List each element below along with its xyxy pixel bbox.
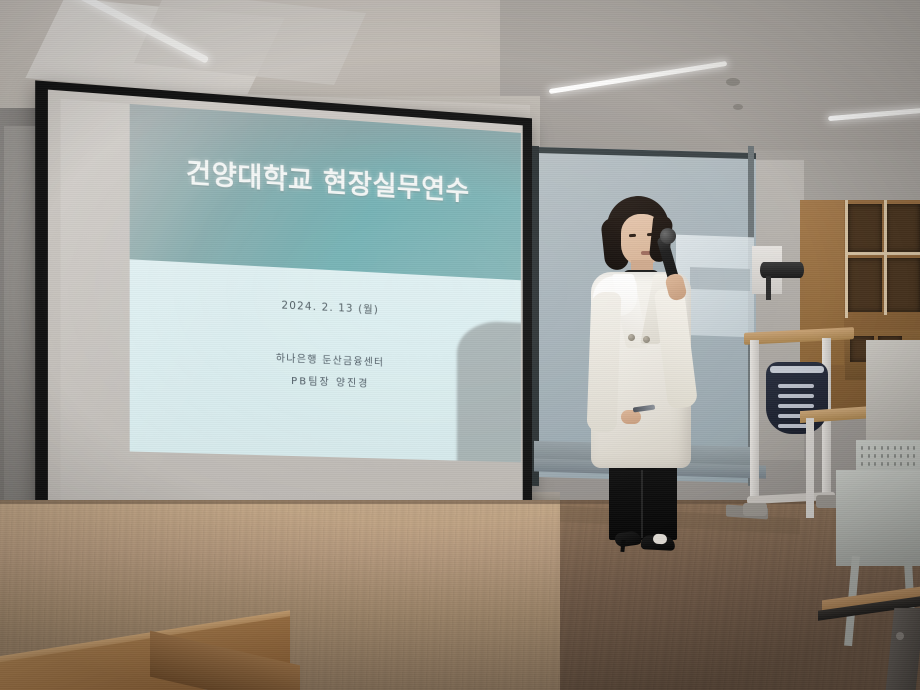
presenter-hand-left <box>621 410 641 424</box>
shelf-cubby <box>886 204 920 252</box>
perforation-dot <box>874 462 876 466</box>
shelf-cubby <box>848 258 882 312</box>
perforation-dot <box>900 446 902 450</box>
shelf-cubby <box>886 258 920 312</box>
perforation-dot <box>881 446 883 450</box>
presenter-arm-left <box>587 292 622 433</box>
perforation-dot <box>887 454 889 458</box>
desk-lamp-neck <box>766 276 771 300</box>
presenter-shoe-toe <box>653 534 668 545</box>
lectern-leg <box>750 340 759 508</box>
perforation-dot <box>868 462 870 466</box>
projection-screen: 건양대학교 현장실무연수 2024. 2. 13 (월) 하나은행 둔산금융센터… <box>35 80 532 553</box>
perforation-dot <box>881 462 883 466</box>
ceiling-fixture-dot <box>726 78 740 86</box>
perforation-dot <box>861 454 863 458</box>
perforation-dot <box>861 462 863 466</box>
perforation-dot <box>894 462 896 466</box>
shelf-divider <box>845 200 848 318</box>
perforation-dot <box>900 462 902 466</box>
shelf-divider <box>846 252 920 255</box>
jacket-button <box>628 334 635 341</box>
perforation-dot <box>868 454 870 458</box>
perforation-dot <box>913 446 915 450</box>
presenter <box>575 196 705 562</box>
ceiling-fixture-dot <box>733 104 743 110</box>
presenter-shoe-left <box>614 530 642 547</box>
shelf-divider <box>884 200 887 315</box>
projection-screen-surface: 건양대학교 현장실무연수 2024. 2. 13 (월) 하나은행 둔산금융센터… <box>48 90 523 540</box>
perforation-dot <box>900 454 902 458</box>
perforation-dot <box>874 454 876 458</box>
lectern-foot <box>743 503 767 516</box>
perforation-dot <box>874 446 876 450</box>
perforation-dot <box>887 462 889 466</box>
perforation-dot <box>907 446 909 450</box>
shelf-cubby <box>848 204 882 252</box>
perforation-dot <box>868 446 870 450</box>
presenter-shoe-heel <box>620 540 625 552</box>
perforation-dot <box>907 454 909 458</box>
perforation-dot <box>861 446 863 450</box>
foreground-chair <box>836 470 920 566</box>
perforation-dot <box>913 462 915 466</box>
presentation-slide: 건양대학교 현장실무연수 2024. 2. 13 (월) 하나은행 둔산금융센터… <box>130 104 521 462</box>
perforation-dot <box>907 462 909 466</box>
presenter-eye-left <box>629 234 636 237</box>
left-doorway-glass <box>4 126 38 526</box>
perforation-dot <box>913 454 915 458</box>
lecture-room-photo: 건양대학교 현장실무연수 2024. 2. 13 (월) 하나은행 둔산금융센터… <box>0 0 920 690</box>
presenter-head-shadow <box>457 320 521 463</box>
perforation-dot <box>894 446 896 450</box>
perforation-dot <box>894 454 896 458</box>
glass-partition-left-frame <box>532 146 539 486</box>
trouser-seam <box>641 460 643 538</box>
foreground-desk-bolt <box>896 632 904 640</box>
jacket-button <box>643 336 650 343</box>
office-chair-top-bar <box>770 366 824 373</box>
perforation-dot <box>881 454 883 458</box>
secondary-desk-leg <box>806 418 814 518</box>
perforation-dot <box>887 446 889 450</box>
presenter-trousers <box>609 458 677 540</box>
